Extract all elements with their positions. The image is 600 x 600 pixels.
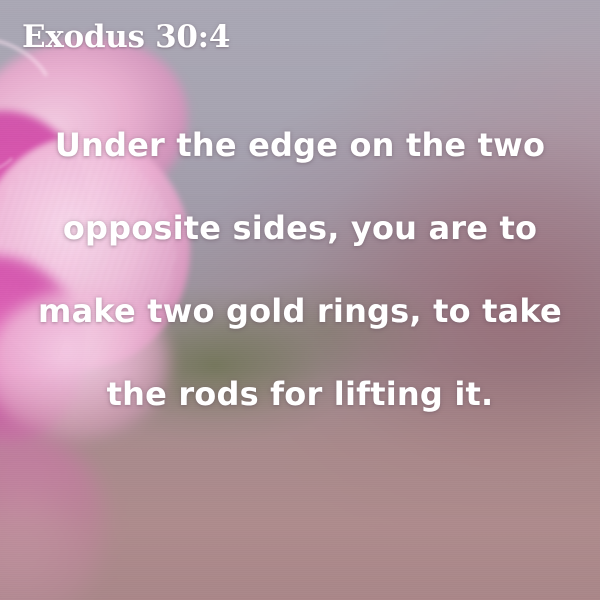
background-blurred-flower-bottom-left-secondary xyxy=(0,505,95,600)
verse-reference: Exodus 30:4 xyxy=(22,22,230,53)
verse-line: the rods for lifting it. xyxy=(0,353,600,436)
verse-line: Under the edge on the two xyxy=(0,104,600,187)
verse-image-canvas: Exodus 30:4 Under the edge on the two op… xyxy=(0,0,600,600)
verse-line: make two gold rings, to take xyxy=(0,270,600,353)
verse-text-block: Under the edge on the two opposite sides… xyxy=(0,104,600,436)
verse-line: opposite sides, you are to xyxy=(0,187,600,270)
background-blurred-flower-bottom-left xyxy=(0,425,105,600)
